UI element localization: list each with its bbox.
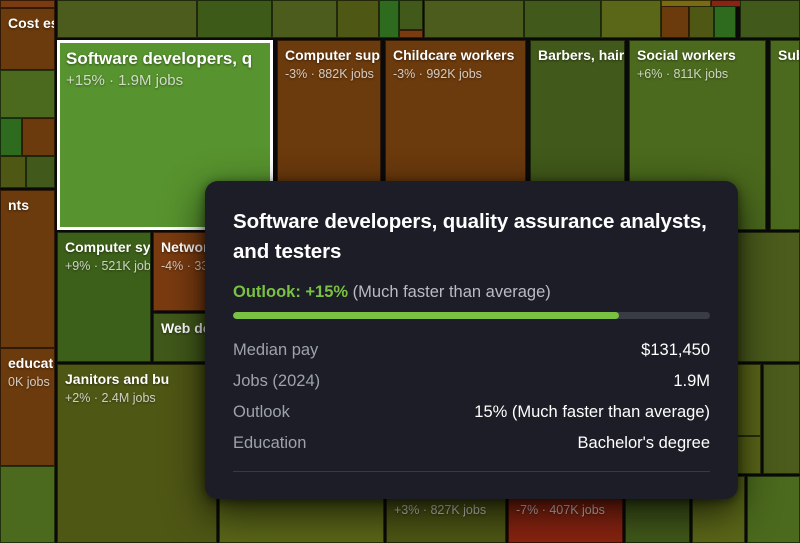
t-row1-p[interactable]	[740, 0, 800, 38]
t-left-a[interactable]	[0, 70, 55, 118]
tile-stats: +9% · 521K jobs	[65, 257, 143, 275]
tooltip-detail-rows: Median pay$131,450Jobs (2024)1.9MOutlook…	[233, 335, 710, 459]
t-left-c[interactable]	[22, 118, 55, 156]
tile-name: educat	[8, 354, 47, 373]
t-row1-o[interactable]	[714, 6, 736, 38]
tile-name: Web de	[161, 319, 205, 338]
tooltip-row-value: 15% (Much faster than average)	[474, 397, 710, 428]
t-top-l1[interactable]	[0, 0, 55, 8]
t-row1-a[interactable]	[57, 0, 197, 38]
tooltip-row: EducationBachelor's degree	[233, 428, 710, 459]
tile-stats: -4% · 33	[161, 257, 205, 275]
treemap-app: Cost estimntseducat0K jobsSoftware devel…	[0, 0, 800, 543]
t-left-e[interactable]	[26, 156, 55, 188]
tile-name: Sub	[778, 46, 792, 65]
t-left-d[interactable]	[0, 156, 26, 188]
tooltip-row-label: Median pay	[233, 335, 318, 366]
tile-name: Janitors and bu	[65, 370, 209, 389]
tile-name: Childcare workers	[393, 46, 518, 65]
t-substance-abuse[interactable]: Sub	[770, 40, 800, 230]
tooltip-row-value: $131,450	[641, 335, 710, 366]
t-row1-j[interactable]	[601, 0, 661, 38]
t-row1-f[interactable]	[399, 0, 423, 30]
tooltip-row-label: Jobs (2024)	[233, 366, 320, 397]
tile-name: Computer sy	[65, 238, 143, 257]
tile-name: Computer sup	[285, 46, 373, 65]
t-row1-d[interactable]	[337, 0, 379, 38]
t-left-b[interactable]	[0, 118, 22, 156]
tile-stats: +6% · 811K jobs	[637, 65, 758, 83]
tile-name: Cost estim	[8, 14, 47, 33]
t-row1-h[interactable]	[424, 0, 524, 38]
t-bot-d[interactable]	[747, 476, 800, 543]
t-computer-systems[interactable]: Computer sy+9% · 521K jobs	[57, 232, 151, 362]
t-row1-g[interactable]	[399, 30, 423, 38]
tile-name: Social workers	[637, 46, 758, 65]
tooltip-row-value: 1.9M	[673, 366, 710, 397]
tile-stats: -7% · 407K jobs	[516, 501, 615, 519]
tile-name: nts	[8, 196, 47, 215]
t-row1-c[interactable]	[272, 0, 337, 38]
tile-stats: -3% · 882K jobs	[285, 65, 373, 83]
tile-stats: +3% · 827K jobs	[394, 501, 498, 519]
tooltip-outlook-descriptor: (Much faster than average)	[353, 283, 551, 301]
t-row1-i[interactable]	[524, 0, 601, 38]
t-network-admin[interactable]: Networ-4% · 33	[153, 232, 213, 311]
t-row1-b[interactable]	[197, 0, 272, 38]
occupation-detail-tooltip: Software developers, quality assurance a…	[205, 181, 738, 499]
tile-stats: +15% · 1.9M jobs	[66, 70, 264, 91]
tooltip-row: Outlook15% (Much faster than average)	[233, 397, 710, 428]
t-row1-e[interactable]	[379, 0, 399, 38]
tile-name: Barbers, hair	[538, 46, 617, 65]
tooltip-row-value: Bachelor's degree	[578, 428, 710, 459]
tile-stats: -3% · 992K jobs	[393, 65, 518, 83]
t-left-f[interactable]	[0, 466, 55, 543]
tile-stats: 0K jobs	[8, 373, 47, 391]
t-education-admin[interactable]: educat0K jobs	[0, 348, 55, 466]
t-janitors[interactable]: Janitors and bu+2% · 2.4M jobs	[57, 364, 217, 543]
t-low-g[interactable]	[737, 436, 761, 474]
t-accountants[interactable]: nts	[0, 190, 55, 348]
tile-stats: +2% · 2.4M jobs	[65, 389, 209, 407]
tile-name: Networ	[161, 238, 205, 257]
tooltip-title: Software developers, quality assurance a…	[233, 207, 710, 267]
outlook-progress-fill	[233, 312, 619, 319]
tooltip-outlook-value: Outlook: +15%	[233, 283, 348, 301]
t-low-h[interactable]	[763, 364, 800, 474]
tile-name: Software developers, q	[66, 47, 264, 70]
t-row1-n[interactable]	[689, 6, 714, 38]
tooltip-row-label: Outlook	[233, 397, 290, 428]
outlook-progress-track	[233, 312, 710, 319]
t-cost-estimators[interactable]: Cost estim	[0, 8, 55, 70]
t-row1-m[interactable]	[661, 6, 689, 38]
tooltip-outlook-line: Outlook: +15% (Much faster than average)	[233, 281, 710, 303]
t-web-developers[interactable]: Web de	[153, 313, 213, 362]
tooltip-row: Median pay$131,450	[233, 335, 710, 366]
tooltip-row-label: Education	[233, 428, 306, 459]
tooltip-row: Jobs (2024)1.9M	[233, 366, 710, 397]
tooltip-divider	[233, 471, 710, 472]
